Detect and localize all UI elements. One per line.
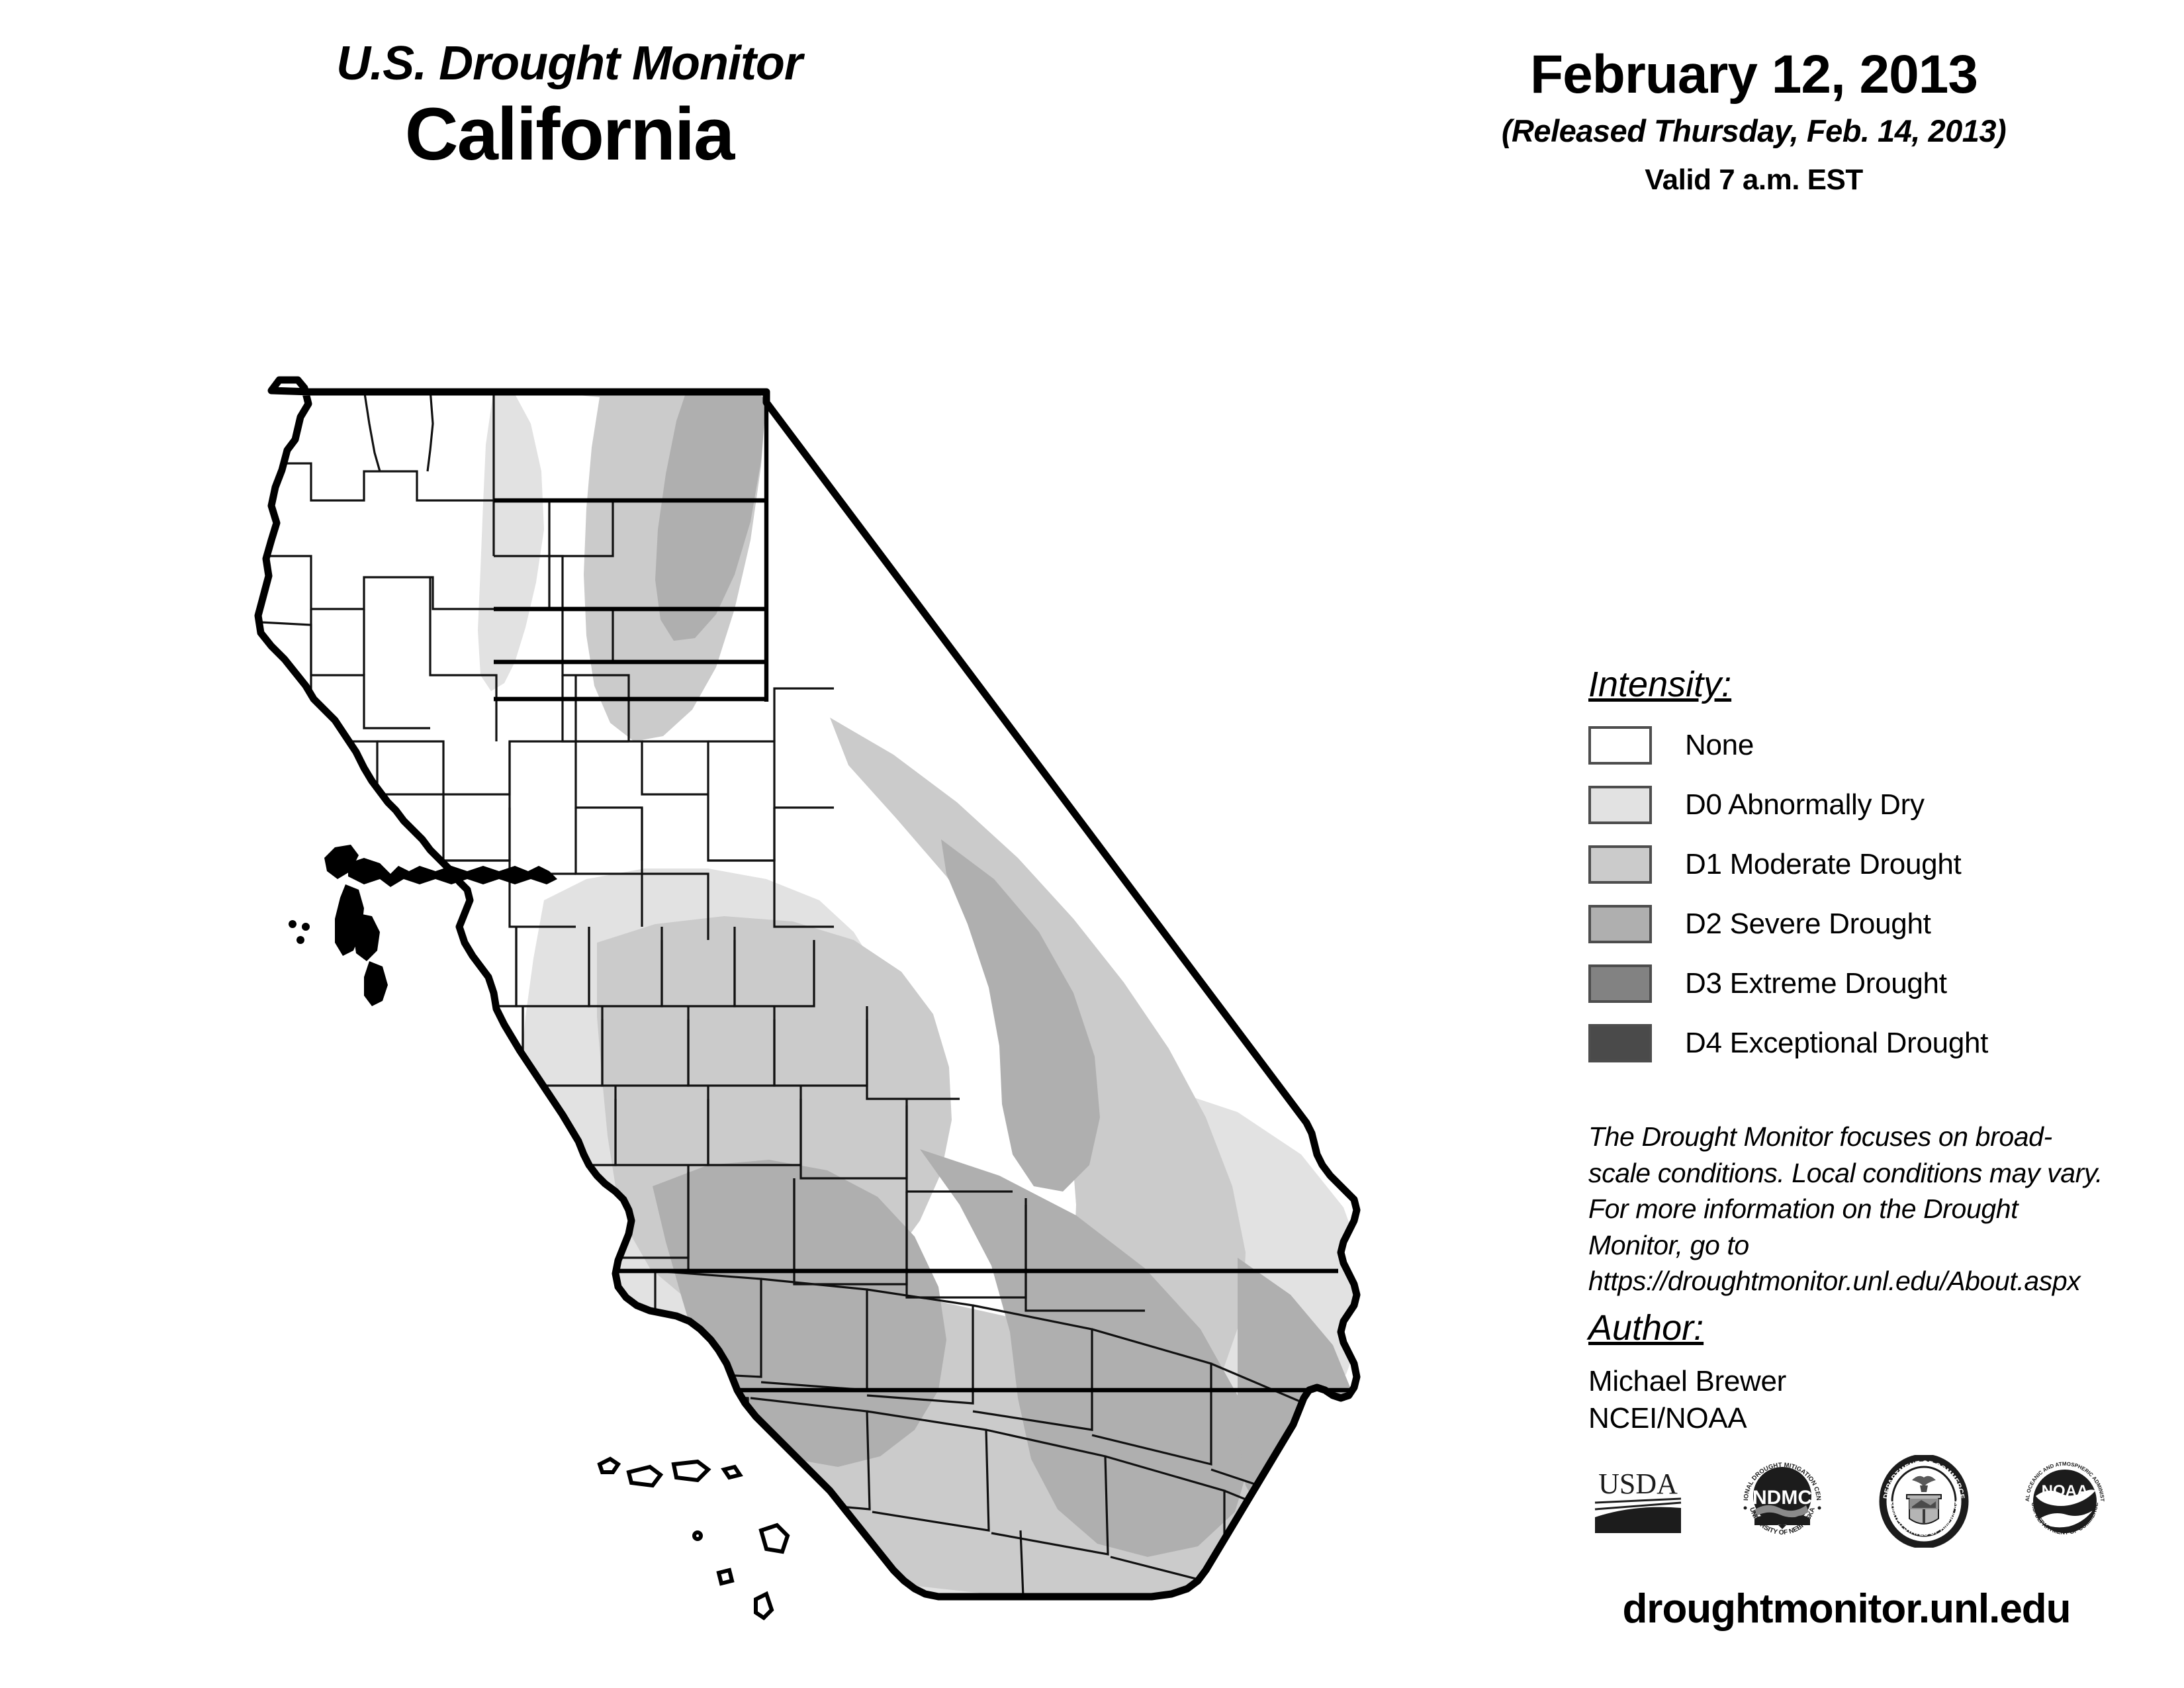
legend-swatch-d1 — [1588, 845, 1652, 884]
legend-title: Intensity: — [1588, 665, 1731, 704]
legend-swatch-none — [1588, 726, 1652, 765]
legend-swatch-d2 — [1588, 905, 1652, 943]
author-block: Author: Michael Brewer NCEI/NOAA — [1588, 1307, 2105, 1438]
legend: Intensity: None D0 Abnormally Dry D1 Mod… — [1588, 665, 2091, 1079]
legend-item-d2: D2 Severe Drought — [1588, 900, 2091, 948]
disclaimer-text: The Drought Monitor focuses on broad-sca… — [1588, 1119, 2111, 1299]
doc-star-right: ★ — [1953, 1497, 1961, 1507]
legend-item-d4: D4 Exceptional Drought — [1588, 1019, 2091, 1067]
logo-row: USDA NDMC NATIONAL DROUGHT MITIGATION CE… — [1588, 1440, 2111, 1566]
legend-item-d0: D0 Abnormally Dry — [1588, 781, 2091, 829]
noaa-logo: NOAA NATIONAL OCEANIC AND ATMOSPHERIC AD… — [2019, 1455, 2111, 1551]
ndmc-logo-text: NDMC — [1752, 1487, 1812, 1509]
page-title: U.S. Drought Monitor — [245, 40, 893, 87]
ndmc-logo: NDMC NATIONAL DROUGHT MITIGATION CENTER … — [1736, 1455, 1829, 1551]
legend-label-d0: D0 Abnormally Dry — [1685, 788, 1925, 821]
channel-islands — [600, 1459, 788, 1618]
date-block: February 12, 2013 (Released Thursday, Fe… — [1423, 46, 2085, 197]
author-heading: Author: — [1588, 1307, 1704, 1348]
footer-url: droughtmonitor.unl.edu — [1582, 1585, 2111, 1632]
legend-swatch-d3 — [1588, 964, 1652, 1003]
doc-logo: DEPARTMENT OF COMMERCE UNITED STATES OF … — [1878, 1455, 1970, 1551]
release-date: (Released Thursday, Feb. 14, 2013) — [1423, 113, 2085, 149]
title-block: U.S. Drought Monitor California — [245, 40, 893, 173]
legend-item-d3: D3 Extreme Drought — [1588, 960, 2091, 1008]
usda-logo: USDA — [1588, 1462, 1688, 1544]
legend-label-d1: D1 Moderate Drought — [1685, 848, 1961, 881]
author-affiliation: NCEI/NOAA — [1588, 1400, 2105, 1437]
state-title: California — [245, 95, 893, 173]
legend-label-none: None — [1685, 729, 1754, 762]
usda-logo-text: USDA — [1598, 1468, 1678, 1500]
legend-item-d1: D1 Moderate Drought — [1588, 841, 2091, 888]
author-name: Michael Brewer — [1588, 1363, 2105, 1400]
legend-label-d3: D3 Extreme Drought — [1685, 967, 1947, 1000]
legend-swatch-d0 — [1588, 786, 1652, 824]
legend-label-d4: D4 Exceptional Drought — [1685, 1027, 1988, 1060]
legend-label-d2: D2 Severe Drought — [1685, 908, 1931, 941]
valid-date: February 12, 2013 — [1423, 46, 2085, 103]
legend-swatch-d4 — [1588, 1024, 1652, 1062]
noaa-logo-text: NOAA — [2042, 1482, 2089, 1500]
valid-time: Valid 7 a.m. EST — [1423, 164, 2085, 197]
drought-map — [232, 344, 1396, 1628]
legend-item-none: None — [1588, 722, 2091, 769]
doc-star-left: ★ — [1887, 1497, 1895, 1507]
